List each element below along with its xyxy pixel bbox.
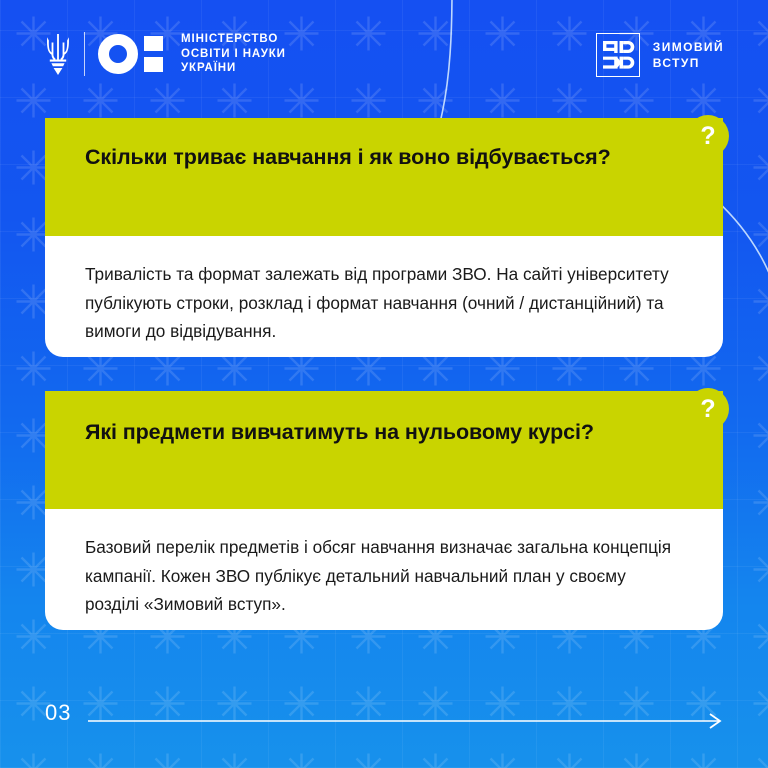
ministry-name: МІНІСТЕРСТВО ОСВІТИ І НАУКИ УКРАЇНИ [181, 32, 286, 76]
faq-answer-block-1: Тривалість та формат залежать від програ… [45, 234, 723, 357]
mon-ring-shape [98, 34, 138, 74]
faq-card-1[interactable]: Скільки триває навчання і як воно відбув… [45, 118, 723, 357]
campaign-name-line1: ЗИМОВИЙ [653, 39, 724, 55]
snowflake-pattern [0, 0, 768, 768]
faq-question-2: Які предмети вивчатимуть на нульовому ку… [85, 417, 633, 448]
background-grid-pattern [0, 0, 768, 768]
faq-answer-1: Тривалість та формат залежать від програ… [85, 260, 683, 346]
mon-squares-shape [144, 36, 163, 72]
mon-square-top [144, 36, 163, 51]
footer: 03 [0, 672, 768, 768]
decorative-arcs [0, 0, 768, 768]
campaign-logo: ЗИМОВИЙ ВСТУП [596, 33, 724, 77]
page-number: 03 [45, 700, 71, 726]
ministry-name-line2: ОСВІТИ І НАУКИ [181, 47, 286, 62]
faq-question-block-1: Скільки триває навчання і як воно відбув… [45, 118, 723, 234]
slide-canvas: МІНІСТЕРСТВО ОСВІТИ І НАУКИ УКРАЇНИ [0, 0, 768, 768]
ukraine-trident-icon [45, 32, 71, 76]
campaign-name-line2: ВСТУП [653, 55, 724, 71]
faq-question-block-2: Які предмети вивчатимуть на нульовому ку… [45, 391, 723, 507]
campaign-name: ЗИМОВИЙ ВСТУП [653, 39, 724, 71]
ministry-name-line3: УКРАЇНИ [181, 61, 286, 76]
faq-answer-block-2: Базовий перелік предметів і обсяг навчан… [45, 507, 723, 630]
faq-question-1: Скільки триває навчання і як воно відбув… [85, 142, 633, 173]
question-badge-2[interactable]: ? [687, 388, 729, 430]
faq-card-2[interactable]: Які предмети вивчатимуть на нульовому ку… [45, 391, 723, 630]
header: МІНІСТЕРСТВО ОСВІТИ І НАУКИ УКРАЇНИ [0, 0, 768, 108]
mon-o-colon-icon [98, 34, 163, 74]
ministry-name-line1: МІНІСТЕРСТВО [181, 32, 286, 47]
question-badge-glyph-1: ? [700, 124, 715, 149]
arrow-right-icon [88, 712, 730, 730]
question-badge-glyph-2: ? [700, 397, 715, 422]
faq-answer-2: Базовий перелік предметів і обсяг навчан… [85, 533, 683, 619]
question-badge-1[interactable]: ? [687, 115, 729, 157]
zv-monogram-icon [596, 33, 640, 77]
mon-square-bottom [144, 57, 163, 72]
ministry-logo: МІНІСТЕРСТВО ОСВІТИ І НАУКИ УКРАЇНИ [45, 32, 286, 76]
logo-divider [84, 32, 85, 76]
